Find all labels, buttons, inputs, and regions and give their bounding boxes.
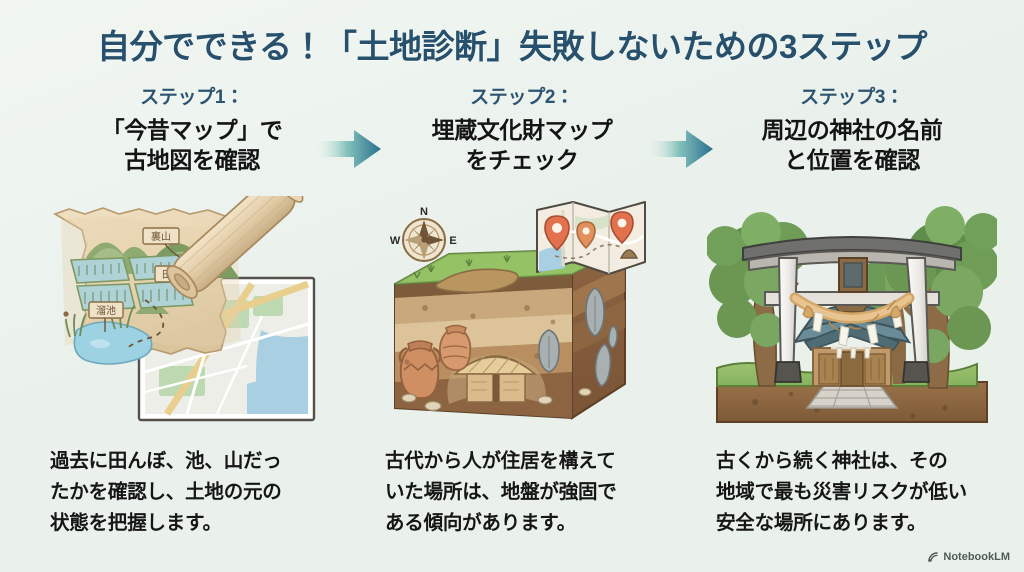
notebooklm-watermark: NotebookLM [927, 551, 1010, 563]
step-title-2: 埋蔵文化財マップ をチェック [377, 115, 667, 176]
step-column-2: ステップ2： 埋蔵文化財マップ をチェック [377, 88, 667, 176]
step-caption-2: 古代から人が住居を構えて いた場所は、地盤が強固で ある傾向があります。 [385, 446, 685, 538]
step-title-1: 「今昔マップ」で 古地図を確認 [47, 115, 337, 176]
pottery-amphora [400, 341, 440, 398]
step-title-3: 周辺の神社の名前 と位置を確認 [707, 115, 997, 176]
infographic-page: 自分でできる！「土地診断」失敗しないための3ステップ ステップ1： 「今昔マップ… [0, 0, 1024, 572]
old-map-illustration: 裏山 田ぼ 溜池 [47, 196, 337, 428]
shinto-shrine-illustration [707, 196, 997, 428]
svg-text:裏山: 裏山 [151, 230, 171, 243]
archaeology-cross-section-illustration: N S W E [377, 196, 667, 428]
step-title-3-line-2: と位置を確認 [707, 145, 997, 176]
step-title-1-line-2: 古地図を確認 [47, 145, 337, 176]
step-caption-1-line-1: 過去に田んぼ、池、山だっ [50, 446, 350, 477]
step-caption-2-line-3: ある傾向があります。 [385, 508, 685, 539]
svg-text:N: N [420, 206, 428, 218]
svg-text:W: W [390, 235, 401, 247]
page-title: 自分でできる！「土地診断」失敗しないための3ステップ [0, 20, 1024, 68]
step-caption-3: 古くから続く神社は、その 地域で最も災害リスクが低い 安全な場所にあります。 [716, 446, 1016, 538]
step-caption-3-line-3: 安全な場所にあります。 [716, 508, 1016, 539]
step-title-2-line-2: をチェック [377, 145, 667, 176]
step-label-3: ステップ3： [707, 88, 997, 109]
step-column-3: ステップ3： 周辺の神社の名前 と位置を確認 [707, 88, 997, 176]
step-label-2: ステップ2： [377, 88, 667, 109]
arrow-right-icon [318, 126, 382, 172]
notebooklm-label: NotebookLM [943, 551, 1010, 563]
step-column-1: ステップ1： 「今昔マップ」で 古地図を確認 [47, 88, 337, 176]
step-caption-1-line-2: たかを確認し、土地の元の [50, 477, 350, 508]
step-caption-3-line-2: 地域で最も災害リスクが低い [716, 477, 1016, 508]
step-label-1: ステップ1： [47, 88, 337, 109]
svg-text:溜池: 溜池 [96, 304, 116, 317]
svg-text:E: E [449, 235, 456, 247]
step-caption-2-line-2: いた場所は、地盤が強固で [385, 477, 685, 508]
step-title-2-line-1: 埋蔵文化財マップ [377, 115, 667, 146]
step-title-1-line-1: 「今昔マップ」で [47, 115, 337, 146]
folded-map-with-pins [537, 202, 645, 274]
step-caption-3-line-1: 古くから続く神社は、その [716, 446, 1016, 477]
notebooklm-logo-icon [927, 551, 939, 563]
step-caption-1-line-3: 状態を把握します。 [50, 508, 350, 539]
step-caption-2-line-1: 古代から人が住居を構えて [385, 446, 685, 477]
step-caption-1: 過去に田んぼ、池、山だっ たかを確認し、土地の元の 状態を把握します。 [50, 446, 350, 538]
step-title-3-line-1: 周辺の神社の名前 [707, 115, 997, 146]
arrow-right-icon [650, 126, 714, 172]
